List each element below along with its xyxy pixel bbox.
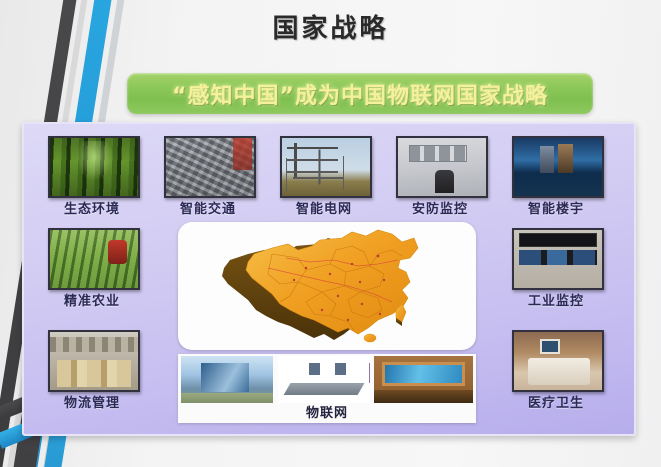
caption-smart-traffic: 智能交通 xyxy=(154,198,262,217)
industrial-monitor-wall-photo xyxy=(514,230,602,288)
caption-eco-environment: 生态环境 xyxy=(38,198,146,217)
warehouse-logistics-photo xyxy=(50,332,138,390)
china-map-card xyxy=(178,222,476,350)
thumb-smart-grid[interactable] xyxy=(280,136,372,198)
thumb-industrial-monitoring[interactable] xyxy=(512,228,604,290)
presentation-slide: 国家战略 “感知中国”成为中国物联网国家战略 生态环境 智能交通 智能电网 安防… xyxy=(0,0,661,467)
caption-security-monitoring: 安防监控 xyxy=(386,198,494,217)
videowall-art xyxy=(374,356,473,403)
caption-industrial-monitoring: 工业监控 xyxy=(502,290,610,309)
highway-traffic-photo xyxy=(166,138,254,196)
bamboo-forest-photo xyxy=(50,138,138,196)
video-wall-control-room-photo xyxy=(374,356,473,403)
thumb-precision-agriculture[interactable] xyxy=(48,228,140,290)
china-map-3d xyxy=(178,222,476,350)
security-control-room-photo xyxy=(398,138,486,196)
thumb-logistics-management[interactable] xyxy=(48,330,140,392)
network-topology-diagram xyxy=(278,356,370,403)
thumb-healthcare[interactable] xyxy=(512,330,604,392)
caption-smart-building: 智能楼宇 xyxy=(502,198,610,217)
caption-logistics-management: 物流管理 xyxy=(38,392,146,411)
thumb-eco-environment[interactable] xyxy=(48,136,140,198)
thumb-security-monitoring[interactable] xyxy=(396,136,488,198)
greenhouse-field-photo xyxy=(50,230,138,288)
headline-banner: “感知中国”成为中国物联网国家战略 xyxy=(127,73,593,114)
power-pylon-photo xyxy=(282,138,370,196)
network-art xyxy=(278,356,370,403)
page-title: 国家战略 xyxy=(0,8,661,45)
iot-card: 物联网 xyxy=(178,354,476,423)
caption-smart-grid: 智能电网 xyxy=(270,198,378,217)
thumb-smart-traffic[interactable] xyxy=(164,136,256,198)
caption-iot: 物联网 xyxy=(178,402,476,421)
smart-building-photo xyxy=(514,138,602,196)
corporate-hq-building-photo xyxy=(181,356,273,403)
hospital-ward-photo xyxy=(514,332,602,390)
thumb-smart-building[interactable] xyxy=(512,136,604,198)
caption-precision-agriculture: 精准农业 xyxy=(38,290,146,309)
hq-art xyxy=(181,356,273,403)
caption-healthcare: 医疗卫生 xyxy=(502,392,610,411)
headline-banner-text: “感知中国”成为中国物联网国家战略 xyxy=(172,78,548,110)
